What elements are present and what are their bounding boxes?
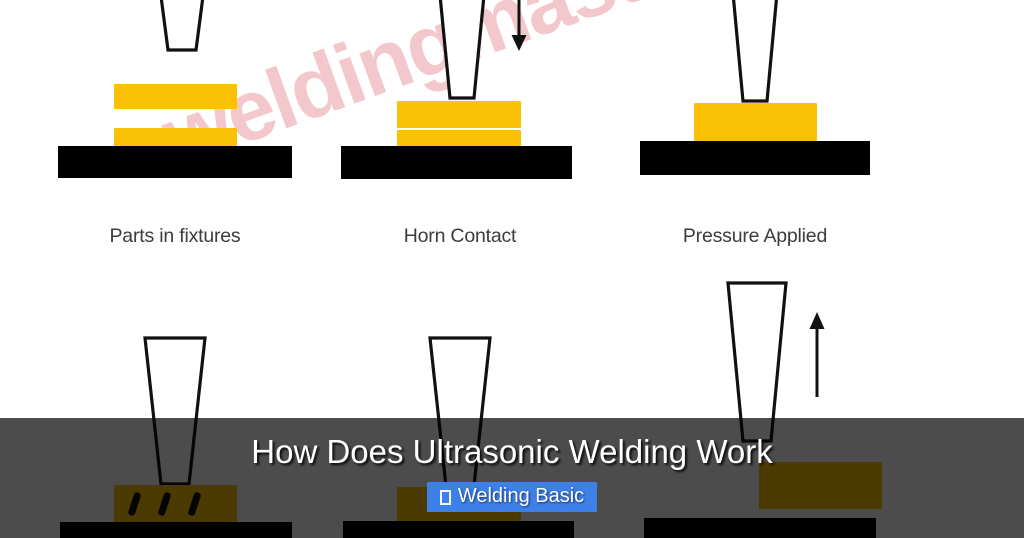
missing-glyph-icon <box>440 490 451 505</box>
category-badge[interactable]: Welding Basic <box>427 482 597 512</box>
welding-horn-icon <box>152 0 212 54</box>
anvil-base <box>341 146 572 179</box>
anvil-base <box>640 141 870 175</box>
page-title: How Does Ultrasonic Welding Work <box>251 434 772 470</box>
step-caption-3: Pressure Applied <box>630 225 880 248</box>
step-caption-1: Parts in fixtures <box>0 225 350 248</box>
category-badge-label: Welding Basic <box>458 485 584 508</box>
step-caption-2: Horn Contact <box>330 225 590 248</box>
arrow-down-icon <box>505 0 533 52</box>
anvil-base <box>58 146 292 178</box>
welding-horn-icon <box>430 0 494 102</box>
upper-part-bar <box>397 101 521 128</box>
overlay-content: How Does Ultrasonic Welding Work Welding… <box>0 418 1024 538</box>
screenshot-root: weldingmaster.com Parts in fixtures <box>0 0 1024 538</box>
welding-horn-icon <box>723 0 787 105</box>
arrow-up-icon <box>803 312 831 398</box>
upper-part-bar <box>114 84 237 109</box>
